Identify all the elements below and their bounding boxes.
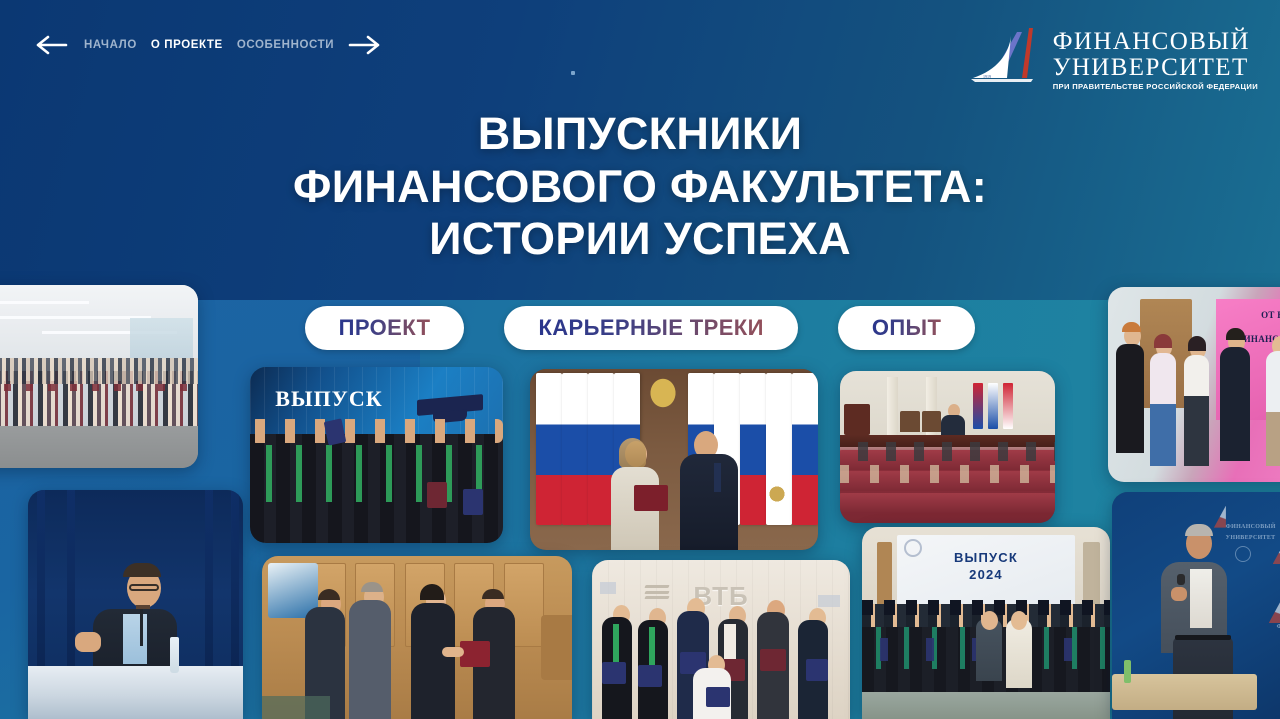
- photo-speaker-brandwall[interactable]: ФИНАНСОВЫЙ УНИВЕРСИТЕТ ФИН ФИН: [1112, 492, 1280, 719]
- logo-wordmark: ФИНАНСОВЫЙ УНИВЕРСИТЕТ ПРИ ПРАВИТЕЛЬСТВЕ…: [1053, 29, 1258, 91]
- photo-podium-speaker[interactable]: [28, 490, 243, 719]
- photo-overlay-vypusk-2024-line1: ВЫПУСК: [954, 550, 1018, 565]
- photo-overlay-vypusk-2024-line2: 2024: [969, 567, 1003, 582]
- photo-auditorium-talk[interactable]: [840, 371, 1055, 523]
- title-line-2: ФИНАНСОВОГО ФАКУЛЬТЕТА:: [0, 161, 1280, 214]
- button-proekt[interactable]: ПРОЕКТ: [305, 306, 465, 350]
- svg-text:1919: 1919: [983, 74, 991, 79]
- title-line-1: ВЫПУСКНИКИ: [0, 108, 1280, 161]
- photo-class-2024[interactable]: ВЫПУСК 2024: [862, 527, 1110, 719]
- button-karyernye-treki-label: КАРЬЕРНЫЕ ТРЕКИ: [538, 315, 763, 341]
- slide-canvas: НАЧАЛО О ПРОЕКТЕ ОСОБЕННОСТИ 1919 ФИНАНС…: [0, 0, 1280, 719]
- sail-logo-icon: 1919: [967, 26, 1045, 94]
- title-line-3: ИСТОРИИ УСПЕХА: [0, 213, 1280, 266]
- page-title: ВЫПУСКНИКИ ФИНАНСОВОГО ФАКУЛЬТЕТА: ИСТОР…: [0, 108, 1280, 266]
- button-karyernye-treki[interactable]: КАРЬЕРНЫЕ ТРЕКИ: [504, 306, 797, 350]
- photo-flags-award[interactable]: [530, 369, 818, 550]
- logo-line-3: ПРИ ПРАВИТЕЛЬСТВЕ РОССИЙСКОЙ ФЕДЕРАЦИИ: [1053, 83, 1258, 91]
- arrow-left-icon[interactable]: [36, 34, 70, 56]
- nav-link-list: НАЧАЛО О ПРОЕКТЕ ОСОБЕННОСТИ: [84, 39, 334, 51]
- button-proekt-label: ПРОЕКТ: [339, 315, 431, 341]
- logo-line-1: ФИНАНСОВЫЙ: [1053, 29, 1258, 54]
- section-buttons: ПРОЕКТ КАРЬЕРНЫЕ ТРЕКИ ОПЫТ: [0, 306, 1280, 350]
- photo-handshake-ceremony[interactable]: [262, 556, 572, 719]
- photo-graduates-sashes[interactable]: ВЫПУСК 2024: [250, 367, 503, 543]
- button-opyt[interactable]: ОПЫТ: [838, 306, 976, 350]
- logo-line-2: УНИВЕРСИТЕТ: [1053, 55, 1258, 80]
- cursor-dot: [571, 71, 575, 75]
- nav-item-osobennosti[interactable]: ОСОБЕННОСТИ: [237, 39, 334, 51]
- top-navigation: НАЧАЛО О ПРОЕКТЕ ОСОБЕННОСТИ: [36, 34, 382, 56]
- button-opyt-label: ОПЫТ: [872, 315, 942, 341]
- nav-item-nachalo[interactable]: НАЧАЛО: [84, 39, 137, 51]
- photo-vtb-graduates[interactable]: ВТБ: [592, 560, 850, 719]
- university-logo: 1919 ФИНАНСОВЫЙ УНИВЕРСИТЕТ ПРИ ПРАВИТЕЛ…: [967, 26, 1258, 94]
- photo-overlay-vypusk: ВЫПУСК: [275, 386, 382, 412]
- nav-item-o-proekte[interactable]: О ПРОЕКТЕ: [151, 39, 223, 51]
- arrow-right-icon[interactable]: [348, 34, 382, 56]
